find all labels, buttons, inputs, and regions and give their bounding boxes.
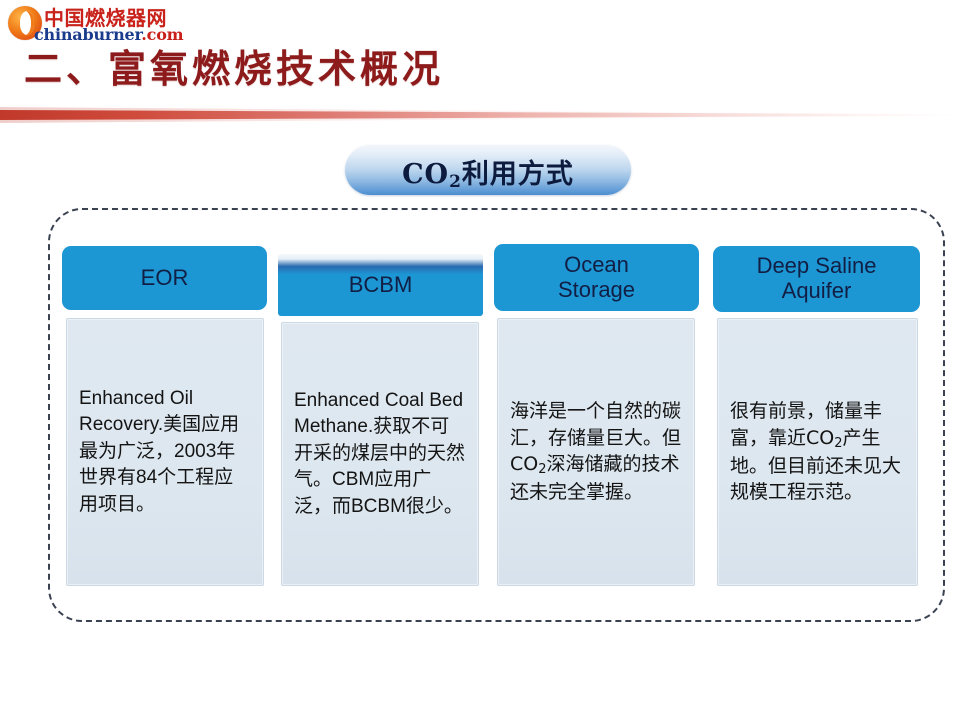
column-body-text-eor: Enhanced Oil Recovery.美国应用最为广泛，2003年世界有8… — [79, 386, 251, 519]
column-header-deep-saline-aquifer-lines: Deep SalineAquifer — [757, 254, 877, 303]
column-header-eor[interactable]: EOR — [62, 246, 267, 310]
column-body-text-deep-saline-aquifer: 很有前景，储量丰富，靠近CO2产生地。但目前还未见大规模工程示范。 — [730, 398, 905, 506]
body-subscript: 2 — [538, 462, 546, 477]
column-body-text-ocean-storage: 海洋是一个自然的碳汇，存储量巨大。但CO2深海储藏的技术还未完全掌握。 — [510, 398, 682, 506]
column-header-deep-saline-aquifer[interactable]: Deep SalineAquifer — [713, 246, 920, 312]
co2-utilization-columns: EOR Enhanced Oil Recovery.美国应用最为广泛，2003年… — [0, 0, 960, 720]
header-line-2: Aquifer — [782, 278, 852, 303]
column-body-bcbm: Enhanced Coal Bed Methane.获取不可开采的煤层中的天然气… — [281, 322, 479, 586]
column-body-deep-saline-aquifer: 很有前景，储量丰富，靠近CO2产生地。但目前还未见大规模工程示范。 — [717, 318, 918, 586]
body-subscript: 2 — [834, 436, 842, 451]
column-header-ocean-storage[interactable]: OceanStorage — [494, 244, 699, 311]
column-body-eor: Enhanced Oil Recovery.美国应用最为广泛，2003年世界有8… — [66, 318, 264, 586]
header-line-1: Ocean — [564, 252, 629, 277]
column-body-text-bcbm: Enhanced Coal Bed Methane.获取不可开采的煤层中的天然气… — [294, 388, 466, 521]
header-line-2: Storage — [558, 277, 635, 302]
column-body-ocean-storage: 海洋是一个自然的碳汇，存储量巨大。但CO2深海储藏的技术还未完全掌握。 — [497, 318, 695, 586]
column-header-bcbm[interactable]: BCBM — [278, 254, 483, 316]
column-header-ocean-storage-lines: OceanStorage — [558, 253, 635, 302]
header-line-1: Deep Saline — [757, 253, 877, 278]
